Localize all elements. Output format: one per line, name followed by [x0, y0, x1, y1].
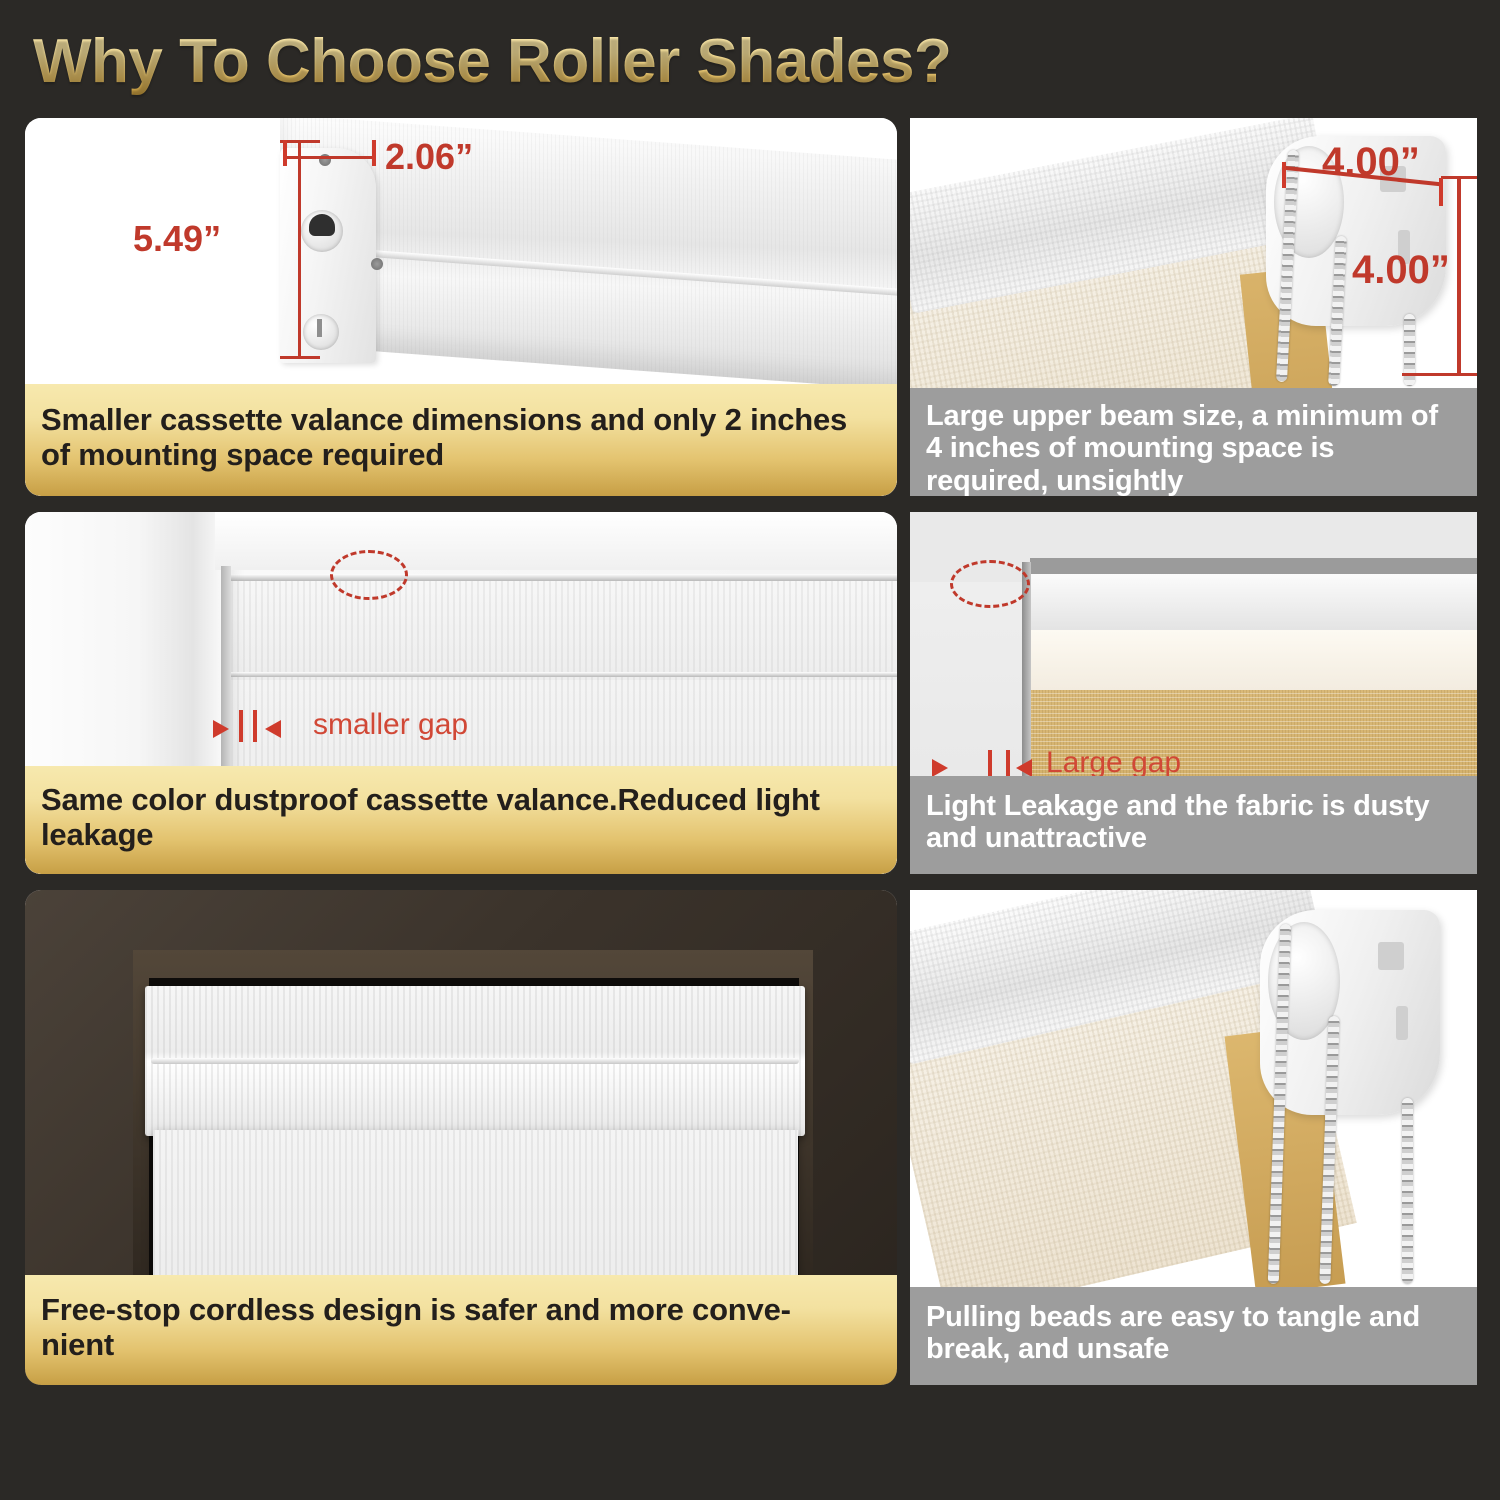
- gap-tick-b: [253, 710, 257, 742]
- width-dimension-label: 2.06”: [385, 136, 473, 178]
- height-dimension-line: [298, 140, 301, 358]
- beam-height-dimension-line: [1457, 176, 1461, 376]
- large-gap-label: Large gap: [1046, 746, 1181, 780]
- bead-chain: [1402, 1098, 1413, 1284]
- panel-caption: Free-stop cordless design is safer and m…: [25, 1275, 897, 1385]
- gap-highlight-ellipse: [950, 560, 1030, 608]
- gap-highlight-ellipse: [330, 550, 408, 600]
- beam-height-cap-top: [1441, 176, 1477, 179]
- beam-width-label: 4.00”: [1322, 140, 1420, 185]
- beam-height-cap-bottom: [1402, 373, 1477, 376]
- panel-good-cordless: Free-stop cordless design is safer and m…: [25, 890, 897, 1385]
- panel-bad-large-gap: Large gap Light Leakage and the fabric i…: [910, 512, 1477, 874]
- width-dim-tick-right: [372, 140, 376, 166]
- panel-caption: Large upper beam size, a minimum of 4 in…: [910, 388, 1477, 496]
- gap-arrow-left: [932, 759, 948, 777]
- beam-height-label: 4.00”: [1352, 248, 1450, 293]
- gap-arrow-left: [213, 720, 229, 738]
- panel-caption: Pulling beads are easy to tangle and bre…: [910, 1287, 1477, 1385]
- panel-caption: Light Leakage and the fabric is dusty an…: [910, 776, 1477, 874]
- page-title: Why To Choose Roller Shades?: [33, 26, 951, 97]
- panel-good-cassette-dimensions: 2.06” 5.49” Smaller cassette valance dim…: [25, 118, 897, 496]
- smaller-gap-label: smaller gap: [313, 708, 468, 742]
- panel-bad-pull-beads: Pulling beads are easy to tangle and bre…: [910, 890, 1477, 1385]
- height-dimension-label: 5.49”: [133, 218, 221, 260]
- gap-arrow-right: [1016, 759, 1032, 777]
- panel-bad-upper-beam-size: 4.00” 4.00” Large upper beam size, a min…: [910, 118, 1477, 496]
- panel-good-smaller-gap: smaller gap Same color dustproof cassett…: [25, 512, 897, 874]
- width-dim-tick-left: [283, 140, 287, 166]
- panel-caption: Smaller cassette valance dimensions and …: [25, 384, 897, 496]
- panel-caption: Same color dustproof cassette valance.Re…: [25, 766, 897, 874]
- gap-tick-a: [239, 710, 243, 742]
- height-dim-cap-bottom: [280, 356, 320, 359]
- beam-width-tick-left: [1282, 162, 1286, 188]
- beam-width-tick-right: [1439, 178, 1443, 206]
- width-dimension-line: [283, 156, 375, 159]
- gap-arrow-right: [265, 720, 281, 738]
